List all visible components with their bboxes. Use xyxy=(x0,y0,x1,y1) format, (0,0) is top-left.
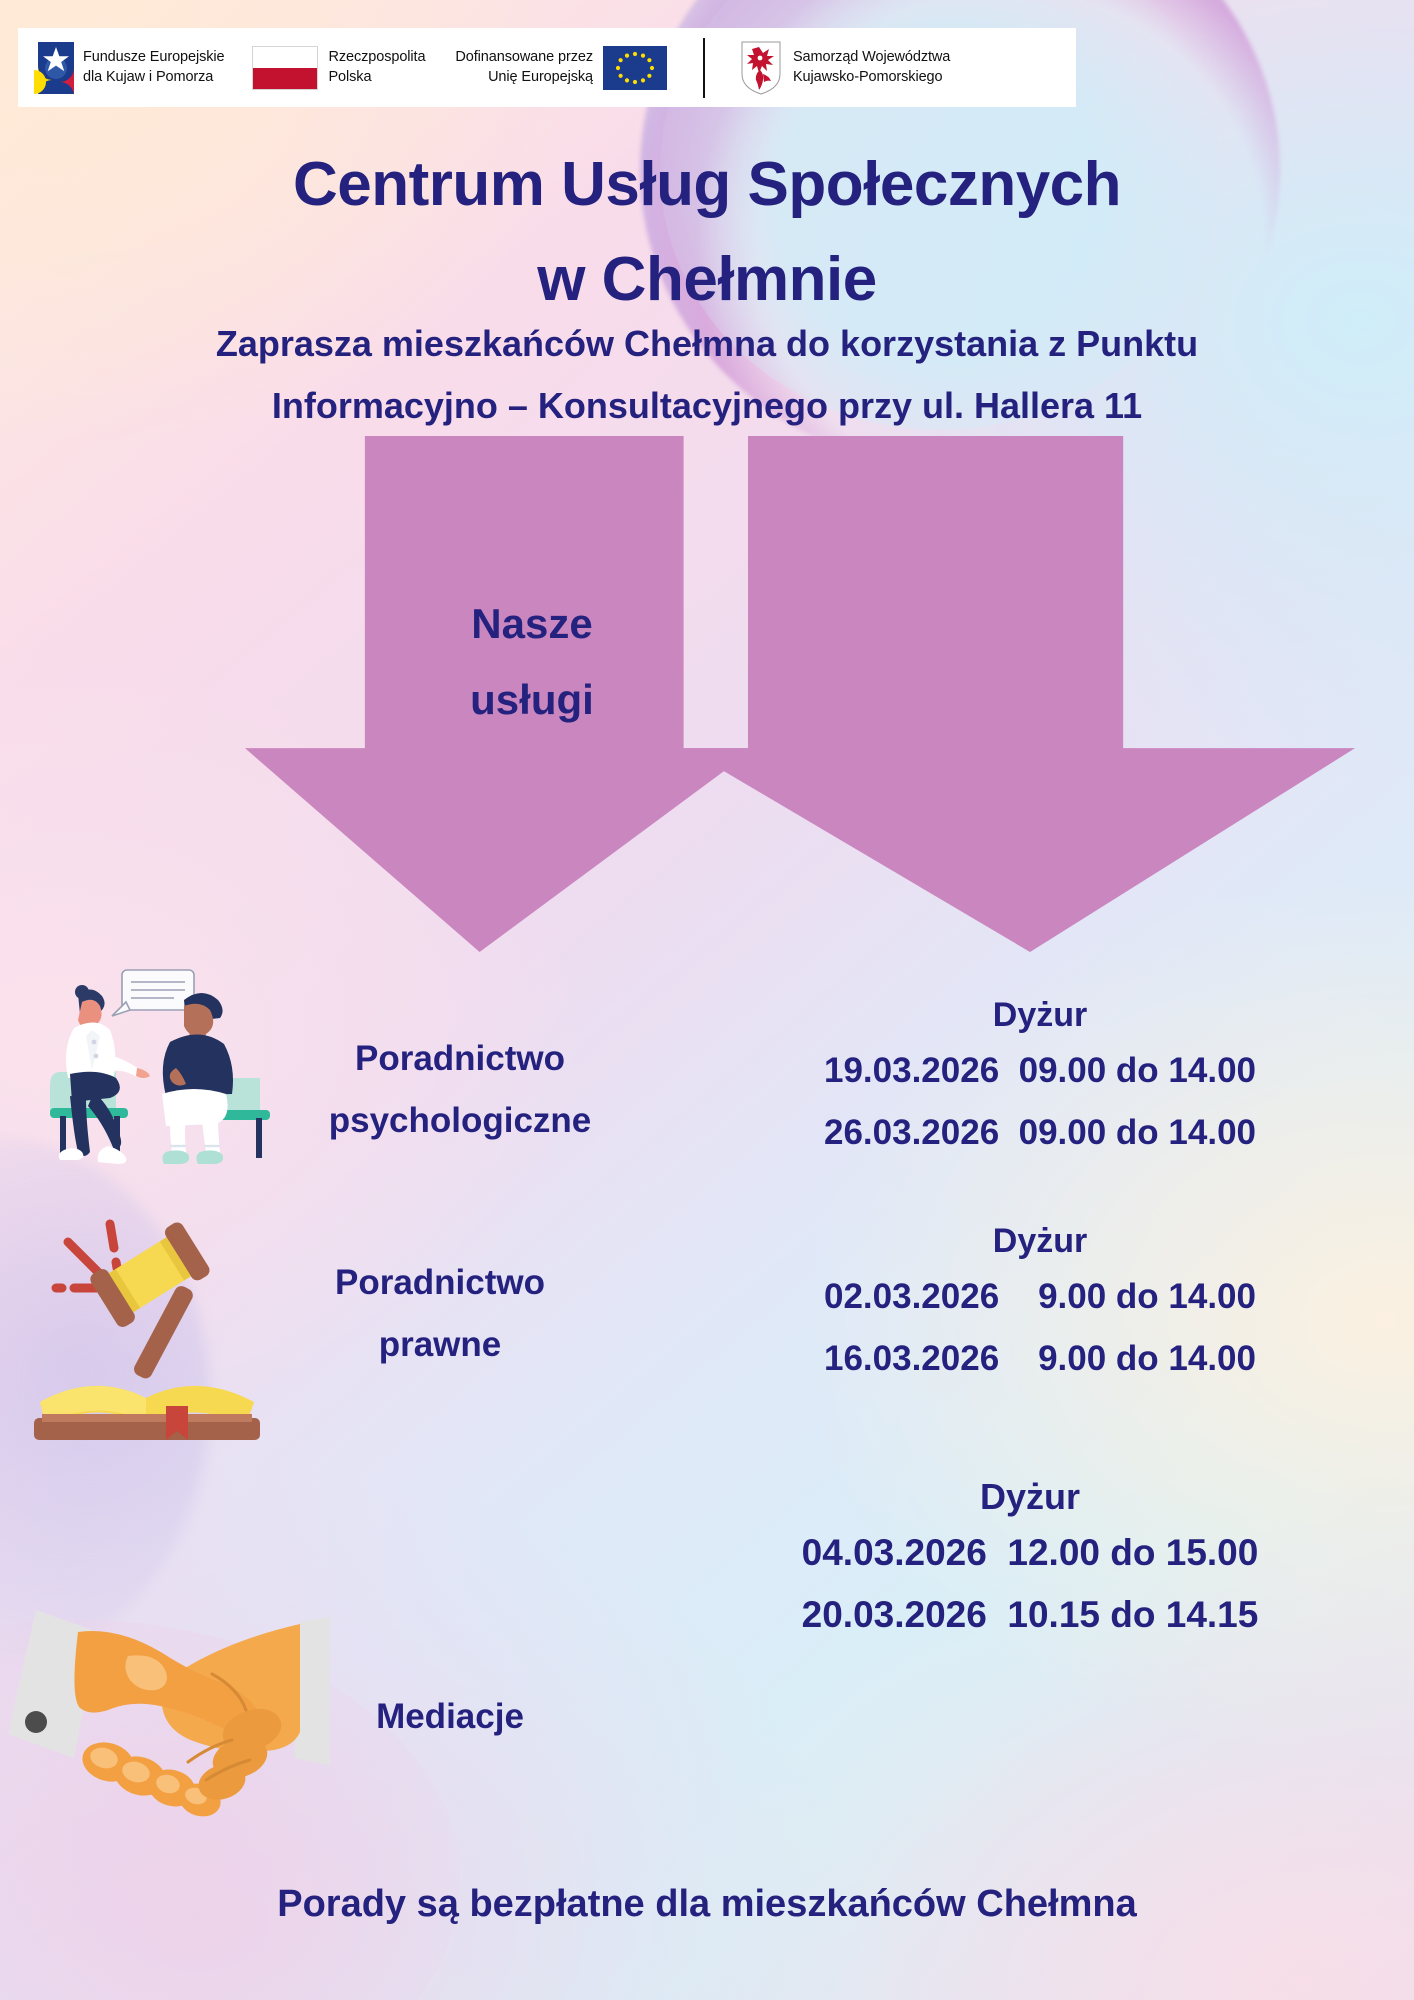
service-1-slot-1: 19.03.2026 09.00 do 14.00 xyxy=(700,1040,1380,1102)
service-2-name-line-2: prawne xyxy=(260,1314,620,1376)
service-2-name-line-1: Poradnictwo xyxy=(260,1252,620,1314)
subtitle-line-2: Informacyjno – Konsultacyjnego przy ul. … xyxy=(0,375,1414,437)
gavel-law-book-icon xyxy=(28,1218,268,1448)
duty-block-mediation: Dyżur 04.03.2026 12.00 do 15.00 20.03.20… xyxy=(660,1472,1400,1646)
service-name-psychological: Poradnictwo psychologiczne xyxy=(280,1028,640,1152)
arrow-right-line-2: marzec xyxy=(1130,615,1282,693)
funding-logo-strip: Fundusze Europejskie dla Kujaw i Pomorza… xyxy=(18,28,1076,107)
logo-kujawsko-pomorskie-caption: Samorząd Województwa Kujawsko-Pomorskieg… xyxy=(793,48,950,87)
service-2-slot-1: 02.03.2026 9.00 do 14.00 xyxy=(700,1266,1380,1328)
arrow-right-line-1: Dyżury xyxy=(1130,537,1282,615)
service-1-name-line-1: Poradnictwo xyxy=(280,1028,640,1090)
subtitle-line-1: Zaprasza mieszkańców Chełmna do korzysta… xyxy=(0,313,1414,375)
eu-funds-icon xyxy=(34,42,74,94)
arrow-our-services: Nasze usługi xyxy=(245,436,755,952)
title-line-1: Centrum Usług Społecznych xyxy=(0,137,1414,232)
poland-flag-icon xyxy=(252,46,318,90)
service-1-slot-2: 26.03.2026 09.00 do 14.00 xyxy=(700,1102,1380,1164)
service-2-slot-2: 16.03.2026 9.00 do 14.00 xyxy=(700,1328,1380,1390)
service-3-slot-2: 20.03.2026 10.15 do 14.15 xyxy=(660,1584,1400,1646)
service-1-duty-label: Dyżur xyxy=(700,990,1380,1040)
service-3-name-line-1: Mediacje xyxy=(300,1686,600,1748)
page-title: Centrum Usług Społecznych w Chełmnie xyxy=(0,137,1414,327)
handshake-icon xyxy=(0,1562,330,1862)
logo-poland-caption: Rzeczpospolita Polska xyxy=(328,48,425,87)
logo-eu-funds: Fundusze Europejskie dla Kujaw i Pomorza xyxy=(18,42,224,94)
logo-kujawsko-pomorskie: Samorząd Województwa Kujawsko-Pomorskieg… xyxy=(739,40,950,96)
logo-eu-cofinancing-caption: Dofinansowane przez Unię Europejską xyxy=(455,48,593,87)
service-2-duty-label: Dyżur xyxy=(700,1216,1380,1266)
arrow-duty-schedule: Dyżury marzec 2026 xyxy=(685,436,1355,952)
service-3-duty-label: Dyżur xyxy=(660,1472,1400,1522)
arrow-left-line-1: Nasze xyxy=(470,586,594,662)
service-name-legal: Poradnictwo prawne xyxy=(260,1252,620,1376)
service-name-mediation: Mediacje xyxy=(300,1558,600,1748)
counseling-session-icon xyxy=(34,960,274,1175)
logo-eu-cofinancing: Dofinansowane przez Unię Europejską xyxy=(455,46,667,90)
duty-block-psychological: Dyżur 19.03.2026 09.00 do 14.00 26.03.20… xyxy=(700,990,1380,1164)
logo-eu-funds-caption: Fundusze Europejskie dla Kujaw i Pomorza xyxy=(83,48,224,87)
kujawsko-pomorskie-coat-of-arms-icon xyxy=(739,40,783,96)
arrow-left-line-2: usługi xyxy=(470,662,594,738)
service-1-name-line-2: psychologiczne xyxy=(280,1090,640,1152)
logo-poland: Rzeczpospolita Polska xyxy=(224,46,425,90)
duty-block-legal: Dyżur 02.03.2026 9.00 do 14.00 16.03.202… xyxy=(700,1216,1380,1390)
logo-divider xyxy=(703,38,705,98)
arrow-our-services-text: Nasze usługi xyxy=(470,586,594,738)
service-3-slot-1: 04.03.2026 12.00 do 15.00 xyxy=(660,1522,1400,1584)
eu-flag-icon xyxy=(603,46,667,90)
footer-note: Porady są bezpłatne dla mieszkańców Cheł… xyxy=(0,1873,1414,1935)
arrow-right-line-3: 2026 xyxy=(1130,693,1282,771)
poster: Fundusze Europejskie dla Kujaw i Pomorza… xyxy=(0,0,1414,2000)
page-subtitle: Zaprasza mieszkańców Chełmna do korzysta… xyxy=(0,313,1414,437)
arrow-duty-schedule-text: Dyżury marzec 2026 xyxy=(1130,537,1282,771)
